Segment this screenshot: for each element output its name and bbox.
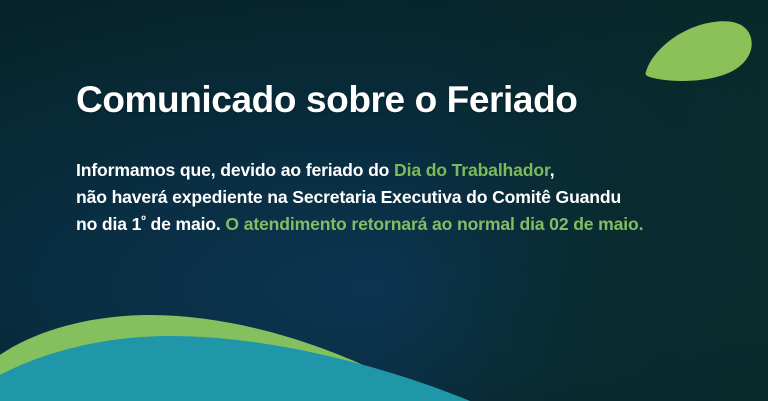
announcement-line-1-tail: , [550, 160, 555, 180]
announcement-date-tail: de maio. [146, 214, 226, 234]
return-notice-highlight: O atendimento retornará ao normal dia 02… [225, 214, 643, 234]
holiday-announcement-banner: Comunicado sobre o Feriado Informamos qu… [0, 0, 768, 401]
announcement-line-1: Informamos que, devido ao feriado do Dia… [76, 157, 736, 184]
banner-content: Comunicado sobre o Feriado Informamos qu… [0, 0, 768, 401]
page-title: Comunicado sobre o Feriado [76, 78, 578, 122]
announcement-date-lead: no dia 1 [76, 214, 141, 234]
holiday-name-highlight: Dia do Trabalhador [394, 160, 550, 180]
announcement-line-3: no dia 1º de maio. O atendimento retorna… [76, 211, 736, 238]
announcement-line-1-lead: Informamos que, devido ao feriado do [76, 160, 394, 180]
announcement-body: Informamos que, devido ao feriado do Dia… [76, 157, 736, 238]
announcement-line-2: não haverá expediente na Secretaria Exec… [76, 184, 736, 211]
